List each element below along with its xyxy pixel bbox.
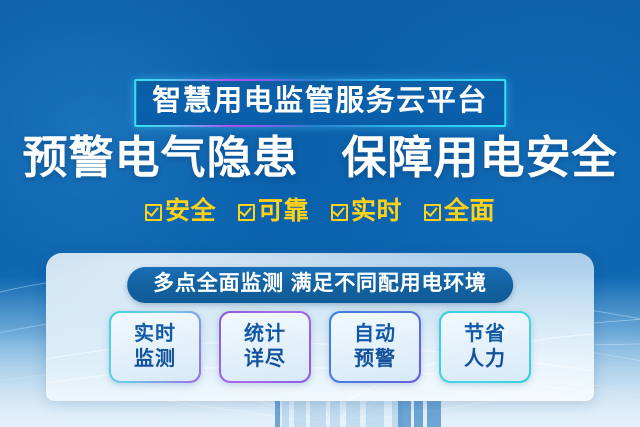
feature-label: 全面 bbox=[444, 199, 495, 224]
platform-title: 智慧用电监管服务云平台 bbox=[152, 86, 488, 117]
card-detailed-statistics[interactable]: 统计 详尽 bbox=[219, 311, 311, 383]
headline: 预警电气隐患 保障用电安全 bbox=[0, 133, 640, 183]
card-line-1: 自动 bbox=[354, 323, 396, 347]
card-line-1: 实时 bbox=[134, 323, 176, 347]
feature-list: 安全 可靠 实时 全面 bbox=[0, 199, 640, 224]
card-inner: 自动 预警 bbox=[331, 313, 420, 382]
poster-canvas: 智慧用电监管服务云平台 预警电气隐患 保障用电安全 安全 可靠 实时 全面 bbox=[0, 0, 640, 427]
title-box-inner: 智慧用电监管服务云平台 bbox=[136, 81, 504, 125]
feature-item-safety: 安全 bbox=[145, 199, 216, 224]
feature-label: 安全 bbox=[165, 199, 216, 224]
checkbox-checked-icon bbox=[145, 204, 162, 221]
feature-label: 可靠 bbox=[258, 199, 309, 224]
card-line-2: 监测 bbox=[134, 348, 176, 372]
card-inner: 实时 监测 bbox=[111, 313, 200, 382]
feature-item-realtime: 实时 bbox=[331, 199, 402, 224]
feature-item-reliable: 可靠 bbox=[238, 199, 309, 224]
headline-left: 预警电气隐患 bbox=[22, 132, 298, 183]
card-realtime-monitoring[interactable]: 实时 监测 bbox=[109, 311, 201, 383]
title-box: 智慧用电监管服务云平台 bbox=[134, 79, 506, 127]
card-inner: 统计 详尽 bbox=[221, 313, 310, 382]
card-automatic-alarm[interactable]: 自动 预警 bbox=[329, 311, 421, 383]
card-line-2: 预警 bbox=[354, 348, 396, 372]
feature-item-comprehensive: 全面 bbox=[424, 199, 495, 224]
panel-pill-text: 多点全面监测 满足不同配用电环境 bbox=[153, 272, 487, 296]
card-inner: 节省 人力 bbox=[441, 313, 530, 382]
card-line-1: 统计 bbox=[244, 323, 286, 347]
checkbox-checked-icon bbox=[424, 204, 441, 221]
card-save-manpower[interactable]: 节省 人力 bbox=[439, 311, 531, 383]
checkbox-checked-icon bbox=[331, 204, 348, 221]
checkbox-checked-icon bbox=[238, 204, 255, 221]
card-line-2: 人力 bbox=[464, 348, 506, 372]
card-line-1: 节省 bbox=[464, 323, 506, 347]
headline-right: 保障用电安全 bbox=[342, 132, 618, 183]
panel-pill: 多点全面监测 满足不同配用电环境 bbox=[127, 267, 513, 303]
feature-label: 实时 bbox=[351, 199, 402, 224]
card-line-2: 详尽 bbox=[244, 348, 286, 372]
card-list: 实时 监测 统计 详尽 自动 预警 节省 人力 bbox=[0, 311, 640, 383]
